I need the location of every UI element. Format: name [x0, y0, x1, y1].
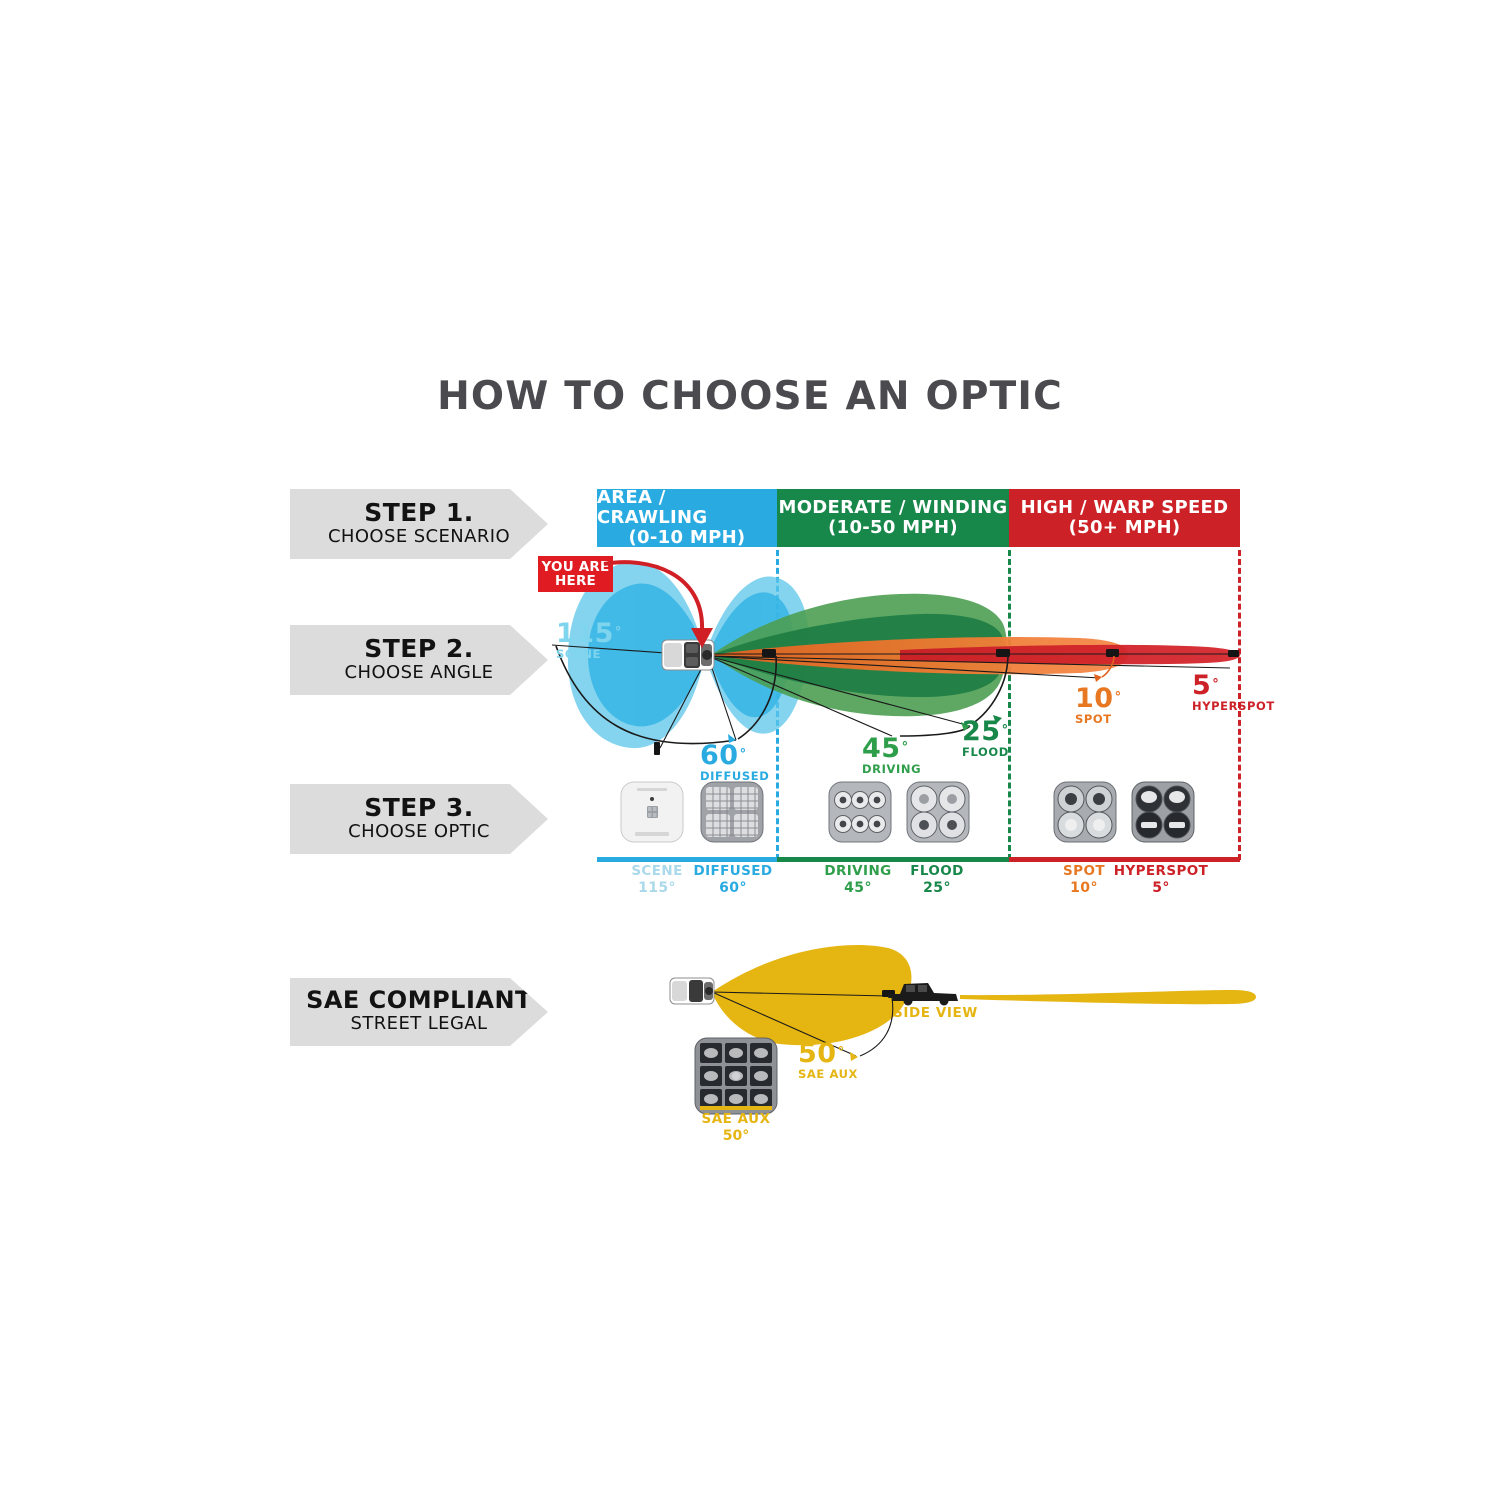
optic-label-sae-angle: 50° [665, 1128, 807, 1144]
callout-flood-degree: ° [1002, 723, 1009, 738]
callout-sae-name: SAE AUX [798, 1069, 858, 1081]
sae-banner-subtitle: STREET LEGAL [351, 1013, 488, 1036]
callout-spot-name: SPOT [1075, 714, 1121, 726]
scenario-moderate-name: MODERATE / WINDING [778, 498, 1007, 518]
callout-sae-degree: ° [838, 1045, 845, 1060]
callout-hyperspot-degree: ° [1212, 677, 1219, 692]
callout-flood-value: 25 [962, 716, 1001, 747]
optic-label-sae-aux: SAE AUX 50° [665, 1112, 807, 1144]
scenario-high-speed: (50+ MPH) [1069, 518, 1181, 538]
optic-label-hyperspot-name: HYPERSPOT [1106, 864, 1216, 880]
callout-hyperspot-name: HYPERSPOT [1192, 701, 1275, 713]
callout-spot-degree: ° [1115, 690, 1122, 705]
you-are-here-line2: HERE [555, 574, 596, 588]
scenario-header-area-crawling: AREA / CRAWLING (0-10 MPH) [597, 489, 777, 547]
side-view-label: SIDE VIEW [893, 1005, 978, 1021]
callout-spot-10: 10° SPOT [1075, 685, 1121, 726]
rule-moderate-winding [777, 857, 1009, 862]
callout-sae-value: 50 [798, 1038, 837, 1069]
step-banner-2: STEP 2. CHOOSE ANGLE [290, 625, 548, 695]
optic-image-hyperspot[interactable] [1128, 780, 1198, 844]
callout-scene-115: 115° SCENE [556, 620, 621, 661]
optic-image-flood[interactable] [903, 780, 973, 844]
step-1-title: STEP 1. [364, 500, 474, 526]
sae-banner-title: SAE COMPLIANT [306, 988, 532, 1013]
callout-hyperspot-5: 5° HYPERSPOT [1192, 672, 1275, 713]
callout-scene-name: SCENE [556, 649, 621, 661]
optic-label-flood-name: FLOOD [882, 864, 992, 880]
rule-sae-aux [700, 1106, 772, 1110]
callout-flood-25: 25° FLOOD [962, 718, 1009, 759]
scenario-header-moderate-winding: MODERATE / WINDING (10-50 MPH) [777, 489, 1009, 547]
rule-high-warp-speed [1009, 857, 1240, 862]
step-2-title: STEP 2. [364, 636, 474, 662]
scenario-moderate-speed: (10-50 MPH) [828, 518, 958, 538]
callout-driving-45: 45° DRIVING [862, 735, 921, 776]
step-3-subtitle: CHOOSE OPTIC [348, 821, 490, 844]
optic-image-spot[interactable] [1050, 780, 1120, 844]
callout-hyperspot-value: 5 [1192, 670, 1211, 701]
optic-label-flood-angle: 25° [882, 880, 992, 896]
callout-driving-degree: ° [902, 740, 909, 755]
optic-image-scene[interactable] [617, 780, 687, 844]
optic-label-diffused-angle: 60° [678, 880, 788, 896]
page-title: HOW TO CHOOSE AN OPTIC [0, 374, 1500, 419]
callout-diffused-60: 60° DIFFUSED [700, 742, 769, 783]
optic-label-sae-name: SAE AUX [665, 1112, 807, 1128]
optic-label-hyperspot: HYPERSPOT 5° [1106, 864, 1216, 896]
callout-sae-aux-50: 50° SAE AUX [798, 1040, 858, 1081]
optic-label-diffused: DIFFUSED 60° [678, 864, 788, 896]
callout-driving-value: 45 [862, 733, 901, 764]
step-2-subtitle: CHOOSE ANGLE [345, 662, 494, 685]
optic-image-sae-aux[interactable] [692, 1036, 780, 1116]
callout-scene-degree: ° [615, 625, 622, 640]
callout-spot-value: 10 [1075, 683, 1114, 714]
step-1-subtitle: CHOOSE SCENARIO [328, 526, 510, 549]
optic-label-hyperspot-angle: 5° [1106, 880, 1216, 896]
callout-scene-value: 115 [556, 618, 614, 649]
callout-driving-name: DRIVING [862, 764, 921, 776]
scenario-area-speed: (0-10 MPH) [629, 528, 746, 548]
callout-diffused-degree: ° [740, 747, 747, 762]
sae-vehicle-top-view [670, 978, 714, 1004]
scenario-header-high-warp-speed: HIGH / WARP SPEED (50+ MPH) [1009, 489, 1240, 547]
callout-flood-name: FLOOD [962, 747, 1009, 759]
step-banner-3: STEP 3. CHOOSE OPTIC [290, 784, 548, 854]
beam-sae-side-view [960, 990, 1256, 1004]
optic-image-driving[interactable] [825, 780, 895, 844]
step-banner-1: STEP 1. CHOOSE SCENARIO [290, 489, 548, 559]
rule-area-crawling [597, 857, 777, 862]
optic-image-diffused[interactable] [697, 780, 767, 844]
beam-sae-aux-50 [712, 945, 911, 1045]
optic-label-flood: FLOOD 25° [882, 864, 992, 896]
scenario-area-name: AREA / CRAWLING [597, 488, 777, 528]
optic-label-diffused-name: DIFFUSED [678, 864, 788, 880]
callout-diffused-value: 60 [700, 740, 739, 771]
scenario-high-name: HIGH / WARP SPEED [1021, 498, 1229, 518]
step-3-title: STEP 3. [364, 795, 474, 821]
sae-compliant-banner: SAE COMPLIANT STREET LEGAL [290, 978, 548, 1046]
